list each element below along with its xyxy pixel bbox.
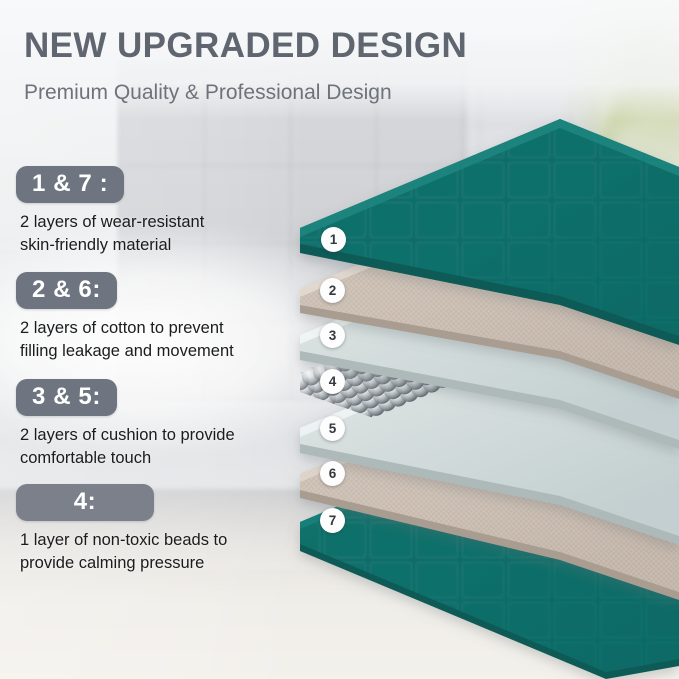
feature-block-1-and-7: 1 & 7 : 2 layers of wear-resistant skin-… — [16, 166, 204, 256]
page-subtitle: Premium Quality & Professional Design — [24, 81, 392, 105]
feature-text-4: 1 layer of non-toxic beads to provide ca… — [20, 529, 227, 573]
layer-marker-3: 3 — [320, 323, 345, 348]
feature-badge-2-and-6: 2 & 6: — [16, 272, 117, 309]
infographic-canvas: NEW UPGRADED DESIGN Premium Quality & Pr… — [0, 0, 679, 679]
layer-marker-1: 1 — [321, 227, 346, 252]
layer-marker-2: 2 — [320, 278, 345, 303]
layer-marker-5: 5 — [320, 416, 345, 441]
feature-text-1-and-7: 2 layers of wear-resistant skin-friendly… — [20, 211, 204, 255]
feature-badge-1-and-7: 1 & 7 : — [16, 166, 124, 203]
feature-badge-3-and-5: 3 & 5: — [16, 379, 117, 416]
feature-badge-4: 4: — [16, 484, 154, 521]
feature-text-2-and-6: 2 layers of cotton to prevent filling le… — [20, 317, 234, 361]
feature-text-3-and-5: 2 layers of cushion to provide comfortab… — [20, 424, 235, 468]
layer-marker-6: 6 — [320, 461, 345, 486]
layer-marker-7: 7 — [320, 508, 345, 533]
layer-marker-4: 4 — [320, 369, 345, 394]
feature-block-4: 4: 1 layer of non-toxic beads to provide… — [16, 484, 227, 574]
feature-block-2-and-6: 2 & 6: 2 layers of cotton to prevent fil… — [16, 272, 234, 362]
page-title: NEW UPGRADED DESIGN — [24, 26, 467, 66]
feature-block-3-and-5: 3 & 5: 2 layers of cushion to provide co… — [16, 379, 235, 469]
